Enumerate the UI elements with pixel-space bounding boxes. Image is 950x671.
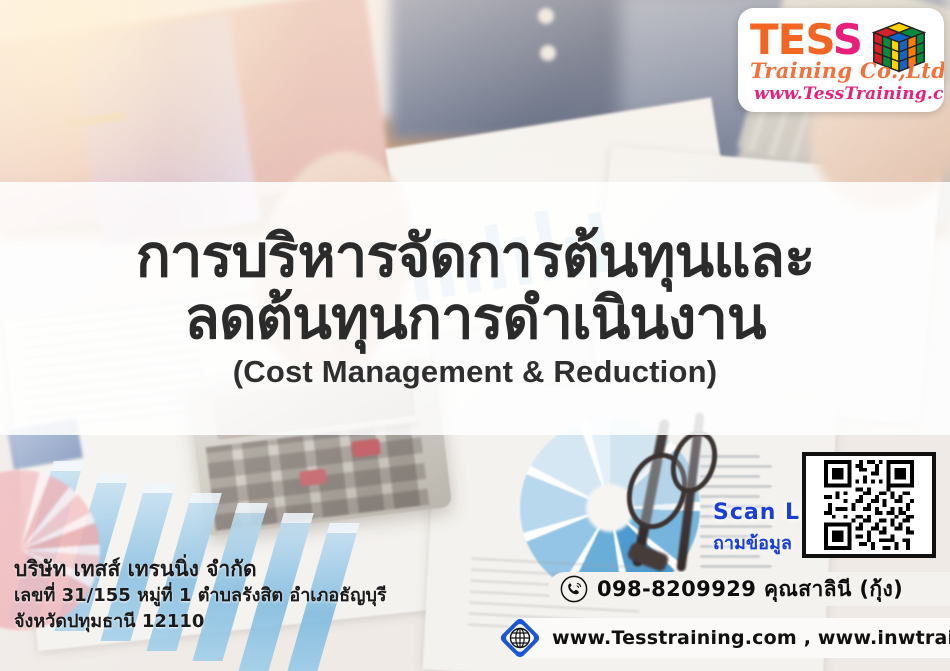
company-name: บริษัท เทสส์ เทรนนิ่ง จำกัด (14, 556, 414, 583)
logo-brand-accent: S (833, 15, 862, 64)
globe-icon (498, 616, 542, 660)
company-address-block: บริษัท เทสส์ เทรนนิ่ง จำกัด เลขที่ 31/15… (14, 556, 414, 635)
phone-handset-icon (560, 575, 588, 603)
logo-url[interactable]: www.TessTraining.com (754, 84, 938, 104)
qr-code-icon[interactable] (802, 452, 936, 558)
logo-brand-main: TES (750, 15, 833, 64)
title-line-1: การบริหารจัดการต้นทุนและ (136, 227, 815, 286)
title-subtitle: (Cost Management & Reduction) (233, 354, 718, 390)
company-logo[interactable]: TESS (738, 8, 944, 112)
logo-wordmark: TESS (750, 18, 884, 62)
scan-line-label: Scan Line (713, 500, 813, 525)
phone-contact-row[interactable]: 098-8209929 คุณสาลินี (กุ้ง) (560, 574, 903, 604)
qr-code-pattern (806, 456, 932, 554)
title-line-2: ลดต้นทุนการดำเนินงาน (184, 289, 765, 348)
address-line-1: เลขที่ 31/155 หมู่ที่ 1 ตำบลรังสิต อำเภอ… (14, 583, 414, 609)
poster-canvas: การบริหารจัดการต้นทุนและ ลดต้นทุนการดำเน… (0, 0, 950, 671)
logo-tagline: Training Co.,Ltd. (750, 58, 930, 83)
website-contact-row[interactable]: www.Tesstraining.com , www.inwtraining.c… (498, 616, 950, 660)
website-urls: www.Tesstraining.com , www.inwtraining.c… (552, 627, 950, 649)
address-line-2: จังหวัดปทุมธานี 12110 (14, 609, 414, 635)
scan-line-block: Scan Line ถามข้อมูล (713, 500, 813, 557)
title-block: การบริหารจัดการต้นทุนและ ลดต้นทุนการดำเน… (0, 182, 950, 435)
phone-number: 098-8209929 คุณสาลินี (กุ้ง) (597, 573, 903, 606)
scan-line-sublabel: ถามข้อมูล (713, 528, 813, 557)
